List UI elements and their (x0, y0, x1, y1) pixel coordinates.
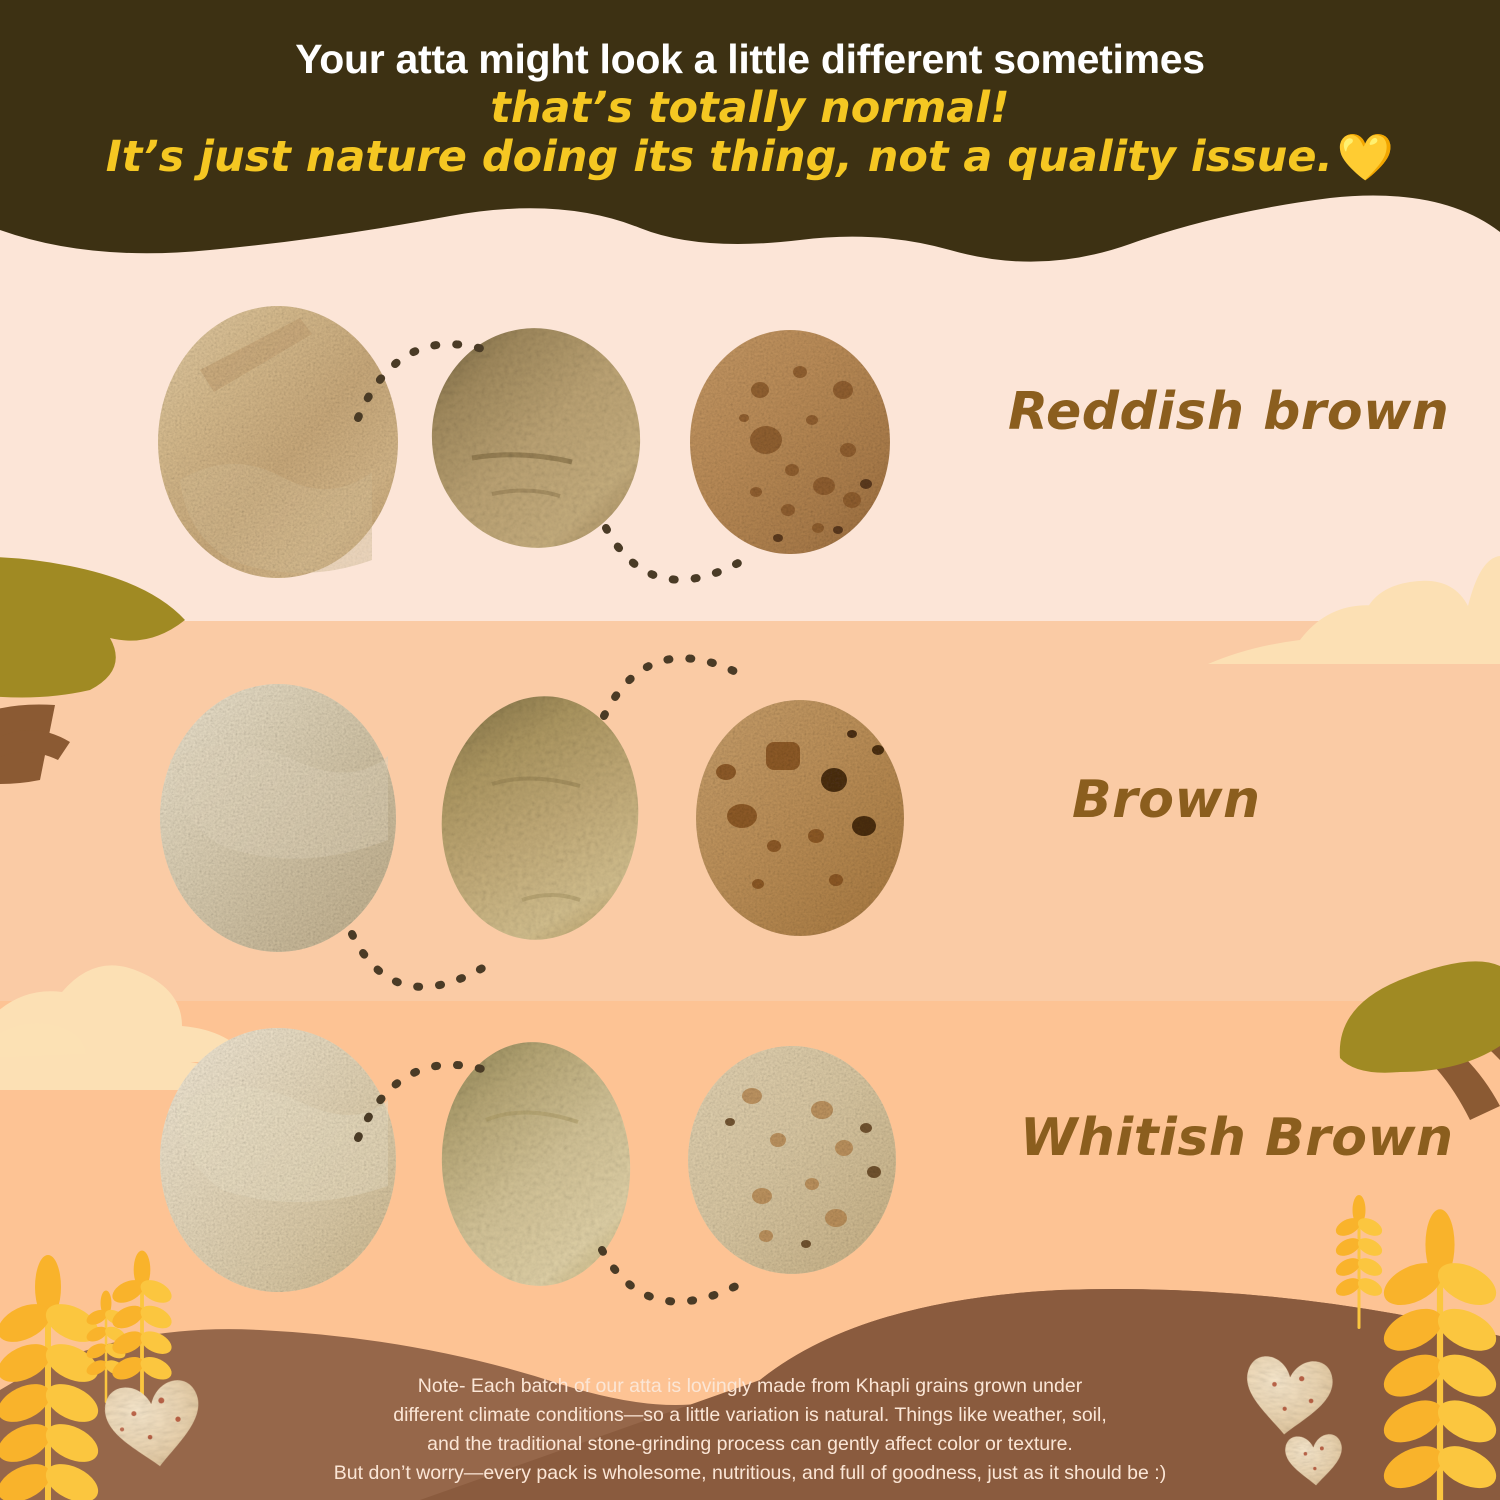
row-2-stage-dough (430, 686, 650, 949)
tree-left (0, 557, 185, 784)
row-1-stage-dough (418, 315, 655, 562)
footer-note: Note- Each batch of our atta is lovingly… (0, 1372, 1500, 1487)
arc-row2-flour-to-dough (352, 934, 486, 987)
infographic-canvas: Your atta might look a little different … (0, 0, 1500, 1500)
row-1-stage-flour (158, 306, 398, 578)
row-1-stage-roti (690, 330, 890, 554)
row-label-brown: Brown (1072, 770, 1261, 830)
headline-tertiary: It’s just nature doing its thing, not a … (106, 132, 1333, 183)
row-2-stage-roti (696, 700, 904, 936)
tree-right (1340, 961, 1500, 1120)
arc-row1-dough-to-roti (606, 528, 740, 580)
row-label-reddish-brown: Reddish brown (1008, 382, 1449, 442)
cloud-right-upper (1208, 556, 1500, 664)
arc-row2-dough-to-roti (604, 658, 740, 716)
footer-note-line-1: Note- Each batch of our atta is lovingly… (0, 1372, 1500, 1401)
row-label-whitish-brown: Whitish Brown (1020, 1108, 1454, 1168)
footer-note-line-3: and the traditional stone-grinding proce… (0, 1430, 1500, 1459)
row-3-stage-dough (434, 1036, 639, 1293)
footer-note-line-4: But don’t worry—every pack is wholesome,… (0, 1459, 1500, 1488)
headline-primary: Your atta might look a little different … (295, 38, 1204, 81)
row-3-stage-roti (688, 1046, 896, 1274)
row-3-stage-flour (160, 1028, 396, 1292)
footer-note-line-2: different climate conditions—so a little… (0, 1401, 1500, 1430)
headline-tertiary-row: It’s just nature doing its thing, not a … (106, 132, 1394, 183)
header-banner: Your atta might look a little different … (0, 0, 1500, 270)
row-2-stage-flour (160, 684, 396, 952)
arc-row3-dough-to-roti (602, 1250, 736, 1302)
headline-secondary: that’s totally normal! (490, 83, 1009, 134)
yellow-heart-icon: 💛 (1337, 134, 1394, 180)
